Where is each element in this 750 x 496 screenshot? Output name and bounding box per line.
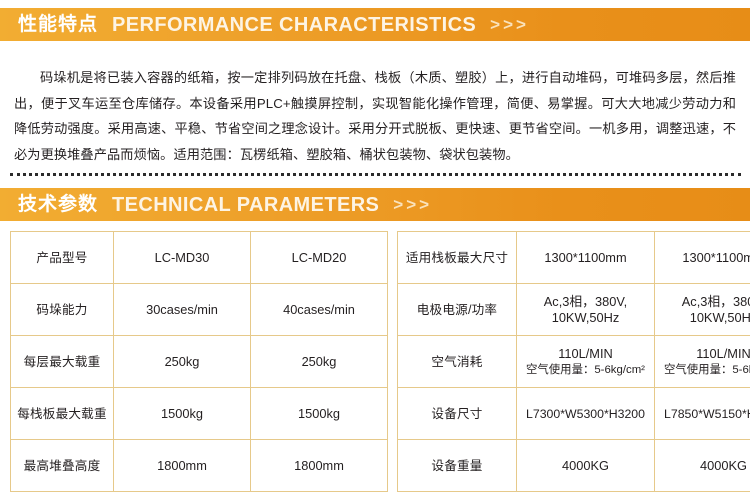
- section-banner-performance: 性能特点 PERFORMANCE CHARACTERISTICS >>>: [0, 8, 750, 41]
- chevron-right-triple-icon: >>>: [393, 196, 432, 213]
- intro-paragraph: 码垛机是将已装入容器的纸箱，按一定排列码放在托盘、栈板（木质、塑胶）上，进行自动…: [14, 65, 736, 167]
- spec-value-md30: 30cases/min: [114, 284, 251, 336]
- spec-value-md20: 250kg: [251, 336, 388, 388]
- spec-table-right-body: 适用栈板最大尺寸 1300*1100mm 1300*1100mm 电极电源/功率…: [398, 232, 750, 492]
- spec-value-line1: Ac,3相，380V,: [521, 294, 650, 310]
- banner-title-cn-technical: 技术参数: [18, 195, 98, 214]
- spec-value-col2: L7850*W5150*H3500: [655, 388, 750, 440]
- spec-value-md20: 1500kg: [251, 388, 388, 440]
- section-banner-technical: 技术参数 TECHNICAL PARAMETERS >>>: [0, 188, 750, 221]
- spec-value-line1: 110L/MIN: [659, 346, 750, 362]
- spec-value-col2: 1300*1100mm: [655, 232, 750, 284]
- dotted-divider: [10, 173, 741, 176]
- spec-label: 电极电源/功率: [398, 284, 517, 336]
- banner-title-en-technical: TECHNICAL PARAMETERS: [112, 195, 379, 215]
- spec-value-line1: 1300*1100mm: [521, 250, 650, 266]
- spec-value-md30: 250kg: [114, 336, 251, 388]
- spec-value-md20: 1800mm: [251, 440, 388, 492]
- spec-value-col1: Ac,3相，380V, 10KW,50Hz: [517, 284, 655, 336]
- table-row: 最高堆叠高度 1800mm 1800mm: [11, 440, 388, 492]
- spec-value-col2: 110L/MIN 空气使用量：5-6kg/cm²: [655, 336, 750, 388]
- table-row: 设备尺寸 L7300*W5300*H3200 L7850*W5150*H3500: [398, 388, 750, 440]
- table-row: 空气消耗 110L/MIN 空气使用量：5-6kg/cm² 110L/MIN 空…: [398, 336, 750, 388]
- spec-value-line2: 空气使用量：5-6kg/cm²: [521, 362, 650, 378]
- spec-label: 每栈板最大载重: [11, 388, 114, 440]
- spec-table-left-body: 产品型号 LC-MD30 LC-MD20 码垛能力 30cases/min 40…: [11, 232, 388, 492]
- chevron-right-triple-icon: >>>: [490, 16, 529, 33]
- spec-value-line1: 4000KG: [659, 458, 750, 474]
- spec-label: 每层最大载重: [11, 336, 114, 388]
- spec-value-line1: L7300*W5300*H3200: [526, 407, 645, 421]
- table-row: 设备重量 4000KG 4000KG: [398, 440, 750, 492]
- spec-value-md20: LC-MD20: [251, 232, 388, 284]
- spec-value-col2: Ac,3相，380V, 10KW,50Hz: [655, 284, 750, 336]
- table-row: 码垛能力 30cases/min 40cases/min: [11, 284, 388, 336]
- banner-title-en-performance: PERFORMANCE CHARACTERISTICS: [112, 15, 476, 35]
- spec-label: 空气消耗: [398, 336, 517, 388]
- spec-value-md30: 1800mm: [114, 440, 251, 492]
- spec-value-line2: 空气使用量：5-6kg/cm²: [659, 362, 750, 378]
- spec-table-right: 适用栈板最大尺寸 1300*1100mm 1300*1100mm 电极电源/功率…: [397, 231, 750, 492]
- spec-value-col1: 1300*1100mm: [517, 232, 655, 284]
- spec-label: 设备重量: [398, 440, 517, 492]
- spec-value-col2: 4000KG: [655, 440, 750, 492]
- table-row: 每层最大载重 250kg 250kg: [11, 336, 388, 388]
- spec-value-line1: 1300*1100mm: [659, 250, 750, 266]
- spec-value-line2: 10KW,50Hz: [659, 310, 750, 326]
- spec-label: 最高堆叠高度: [11, 440, 114, 492]
- table-row: 电极电源/功率 Ac,3相，380V, 10KW,50Hz Ac,3相，380V…: [398, 284, 750, 336]
- banner-title-cn-performance: 性能特点: [18, 15, 98, 34]
- table-row: 适用栈板最大尺寸 1300*1100mm 1300*1100mm: [398, 232, 750, 284]
- spec-value-line1: L7850*W5150*H3500: [664, 407, 750, 421]
- spec-value-col1: 110L/MIN 空气使用量：5-6kg/cm²: [517, 336, 655, 388]
- spec-label: 适用栈板最大尺寸: [398, 232, 517, 284]
- table-row: 每栈板最大载重 1500kg 1500kg: [11, 388, 388, 440]
- specification-tables: 产品型号 LC-MD30 LC-MD20 码垛能力 30cases/min 40…: [10, 231, 741, 492]
- spec-value-col1: 4000KG: [517, 440, 655, 492]
- spec-label: 设备尺寸: [398, 388, 517, 440]
- spec-value-col1: L7300*W5300*H3200: [517, 388, 655, 440]
- spec-value-md30: LC-MD30: [114, 232, 251, 284]
- spec-value-md20: 40cases/min: [251, 284, 388, 336]
- spec-label: 产品型号: [11, 232, 114, 284]
- spec-value-line1: 110L/MIN: [521, 346, 650, 362]
- spec-value-line1: Ac,3相，380V,: [659, 294, 750, 310]
- spec-value-md30: 1500kg: [114, 388, 251, 440]
- spec-table-left: 产品型号 LC-MD30 LC-MD20 码垛能力 30cases/min 40…: [10, 231, 388, 492]
- spec-label: 码垛能力: [11, 284, 114, 336]
- spec-value-line2: 10KW,50Hz: [521, 310, 650, 326]
- spec-value-line1: 4000KG: [521, 458, 650, 474]
- table-row: 产品型号 LC-MD30 LC-MD20: [11, 232, 388, 284]
